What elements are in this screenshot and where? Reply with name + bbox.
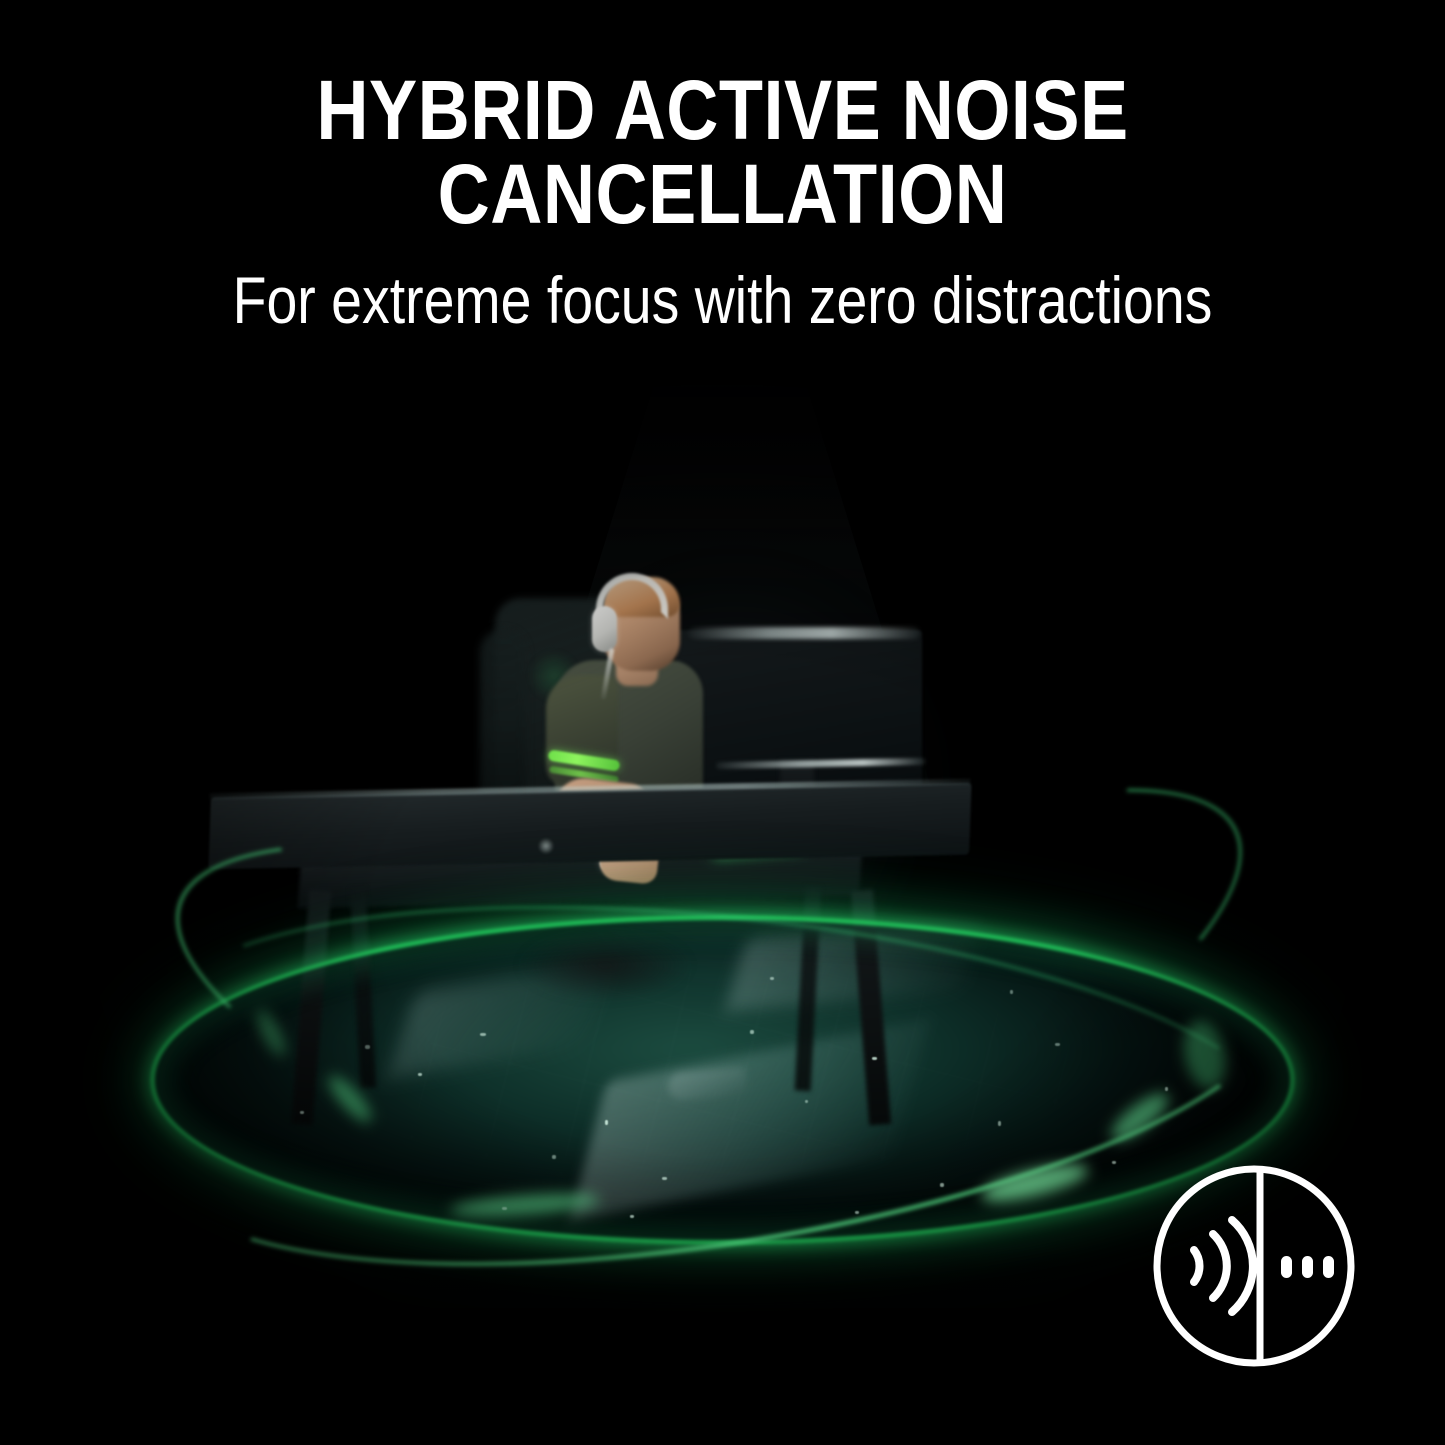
ring-sparkle — [1055, 1043, 1060, 1046]
ring-sparkle — [502, 1207, 507, 1210]
monitor-top-edge-highlight — [688, 627, 920, 639]
ring-sparkle — [300, 1111, 304, 1114]
promo-banner: HYBRID ACTIVE NOISE CANCELLATION For ext… — [0, 0, 1445, 1445]
page-subtitle: For extreme focus with zero distractions — [116, 265, 1330, 335]
ring-sparkle — [365, 1045, 370, 1049]
headline-line-1: HYBRID ACTIVE NOISE — [101, 68, 1344, 152]
ring-sparkle — [1165, 1087, 1168, 1091]
headphone-earcup — [592, 606, 617, 652]
ring-sparkle — [605, 1120, 608, 1125]
green-glow-ring — [150, 915, 1295, 1245]
ring-sparkle — [1112, 1161, 1116, 1164]
hybrid-anc-icon — [1150, 1162, 1358, 1370]
ring-sparkle — [855, 1211, 859, 1214]
ring-sparkle — [940, 1183, 944, 1187]
ring-sparkle — [1010, 990, 1013, 994]
headline-line-2: CANCELLATION — [101, 152, 1344, 236]
ring-sparkle — [630, 1215, 634, 1218]
ring-sparkle — [552, 1155, 556, 1159]
ring-sparkle — [998, 1121, 1001, 1126]
desk-small-highlight — [538, 838, 554, 854]
ring-sparkle — [805, 1100, 808, 1103]
page-title: HYBRID ACTIVE NOISE CANCELLATION — [101, 68, 1344, 236]
ring-sparkle — [770, 977, 774, 980]
ring-sparkle — [750, 1030, 754, 1034]
ring-sparkle — [480, 1033, 486, 1036]
anc-icon-silence-dots — [1281, 1256, 1334, 1278]
ring-sparkle — [872, 1057, 877, 1060]
ring-sparkle — [418, 1073, 422, 1076]
anc-icon-sound-waves — [1194, 1220, 1253, 1312]
ring-sparkle — [662, 1177, 667, 1180]
